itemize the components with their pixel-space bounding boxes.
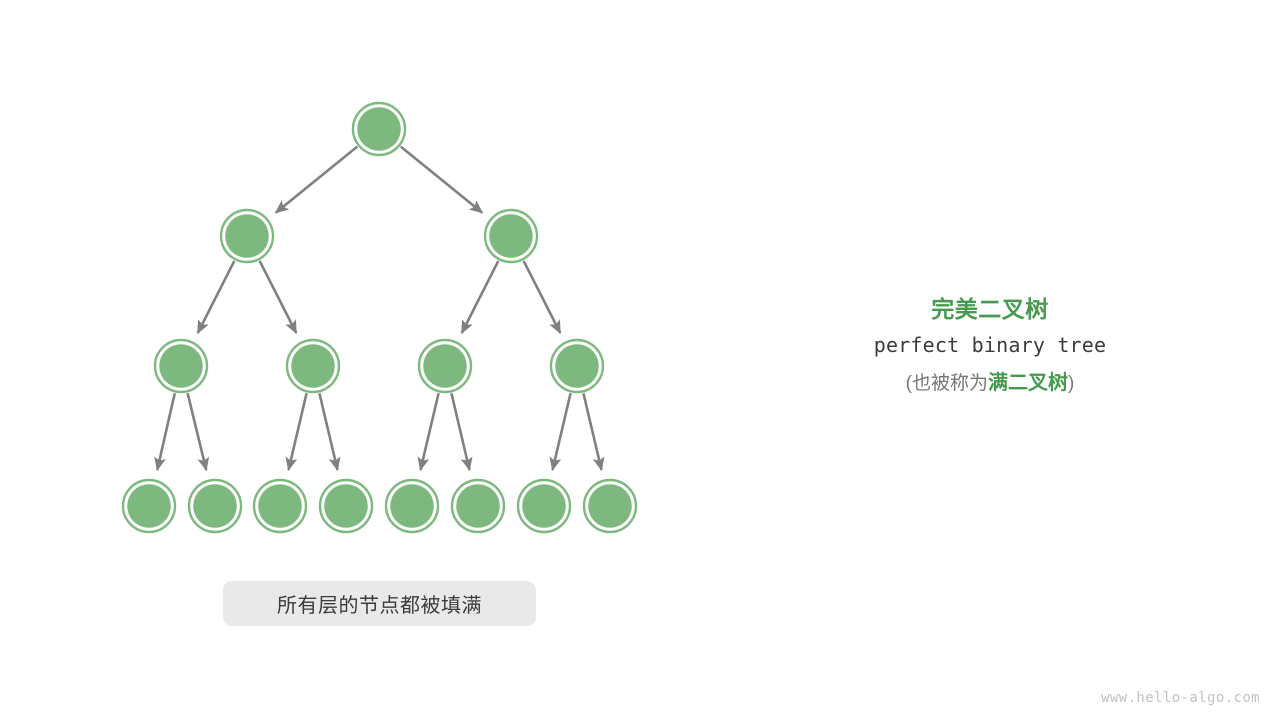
legend-alt-prefix: (也被称为: [906, 373, 988, 394]
legend-alternate-name: (也被称为满二叉树): [790, 364, 1190, 403]
tree-node: [254, 480, 306, 532]
tree-edge: [524, 261, 561, 333]
tree-node: [386, 480, 438, 532]
legend-alt-highlight: 满二叉树: [988, 372, 1068, 394]
watermark: www.hello-algo.com: [1101, 690, 1260, 706]
tree-edge: [276, 147, 358, 213]
tree-edge: [319, 393, 337, 470]
legend-alt-suffix: ): [1068, 373, 1074, 394]
legend-block: 完美二叉树 perfect binary tree (也被称为满二叉树): [790, 292, 1190, 403]
caption-box: 所有层的节点都被填满: [223, 581, 536, 626]
caption-text: 所有层的节点都被填满: [277, 589, 482, 618]
tree-node: [584, 480, 636, 532]
tree-edge: [451, 393, 469, 470]
tree-node-fill: [193, 484, 237, 528]
tree-node-fill: [225, 214, 269, 258]
tree-node-fill: [258, 484, 302, 528]
tree-node-fill: [324, 484, 368, 528]
tree-node: [287, 340, 339, 392]
tree-edge: [198, 261, 235, 333]
tree-node: [189, 480, 241, 532]
tree-node-fill: [423, 344, 467, 388]
tree-node-fill: [127, 484, 171, 528]
tree-node-fill: [522, 484, 566, 528]
tree-node-fill: [456, 484, 500, 528]
tree-edge: [260, 261, 297, 333]
tree-edge: [552, 393, 570, 470]
tree-node: [123, 480, 175, 532]
tree-node: [155, 340, 207, 392]
tree-node: [551, 340, 603, 392]
tree-edge: [420, 393, 438, 470]
tree-node-fill: [489, 214, 533, 258]
tree-edge: [583, 393, 601, 470]
tree-node: [485, 210, 537, 262]
tree-edge: [401, 147, 483, 213]
tree-node-fill: [555, 344, 599, 388]
tree-edge: [288, 393, 306, 470]
tree-edge-layer: [157, 147, 601, 470]
tree-node: [518, 480, 570, 532]
tree-node: [353, 103, 405, 155]
tree-node-fill: [291, 344, 335, 388]
tree-edge: [157, 393, 175, 470]
tree-edge: [462, 261, 499, 333]
tree-node-fill: [588, 484, 632, 528]
tree-node: [452, 480, 504, 532]
tree-node-layer: [123, 103, 636, 532]
tree-node: [221, 210, 273, 262]
legend-title: 完美二叉树: [790, 292, 1190, 326]
tree-node-fill: [159, 344, 203, 388]
tree-node-fill: [390, 484, 434, 528]
tree-edge: [188, 393, 207, 470]
legend-subtitle: perfect binary tree: [790, 326, 1190, 364]
tree-node-fill: [357, 107, 401, 151]
tree-node: [320, 480, 372, 532]
tree-node: [419, 340, 471, 392]
